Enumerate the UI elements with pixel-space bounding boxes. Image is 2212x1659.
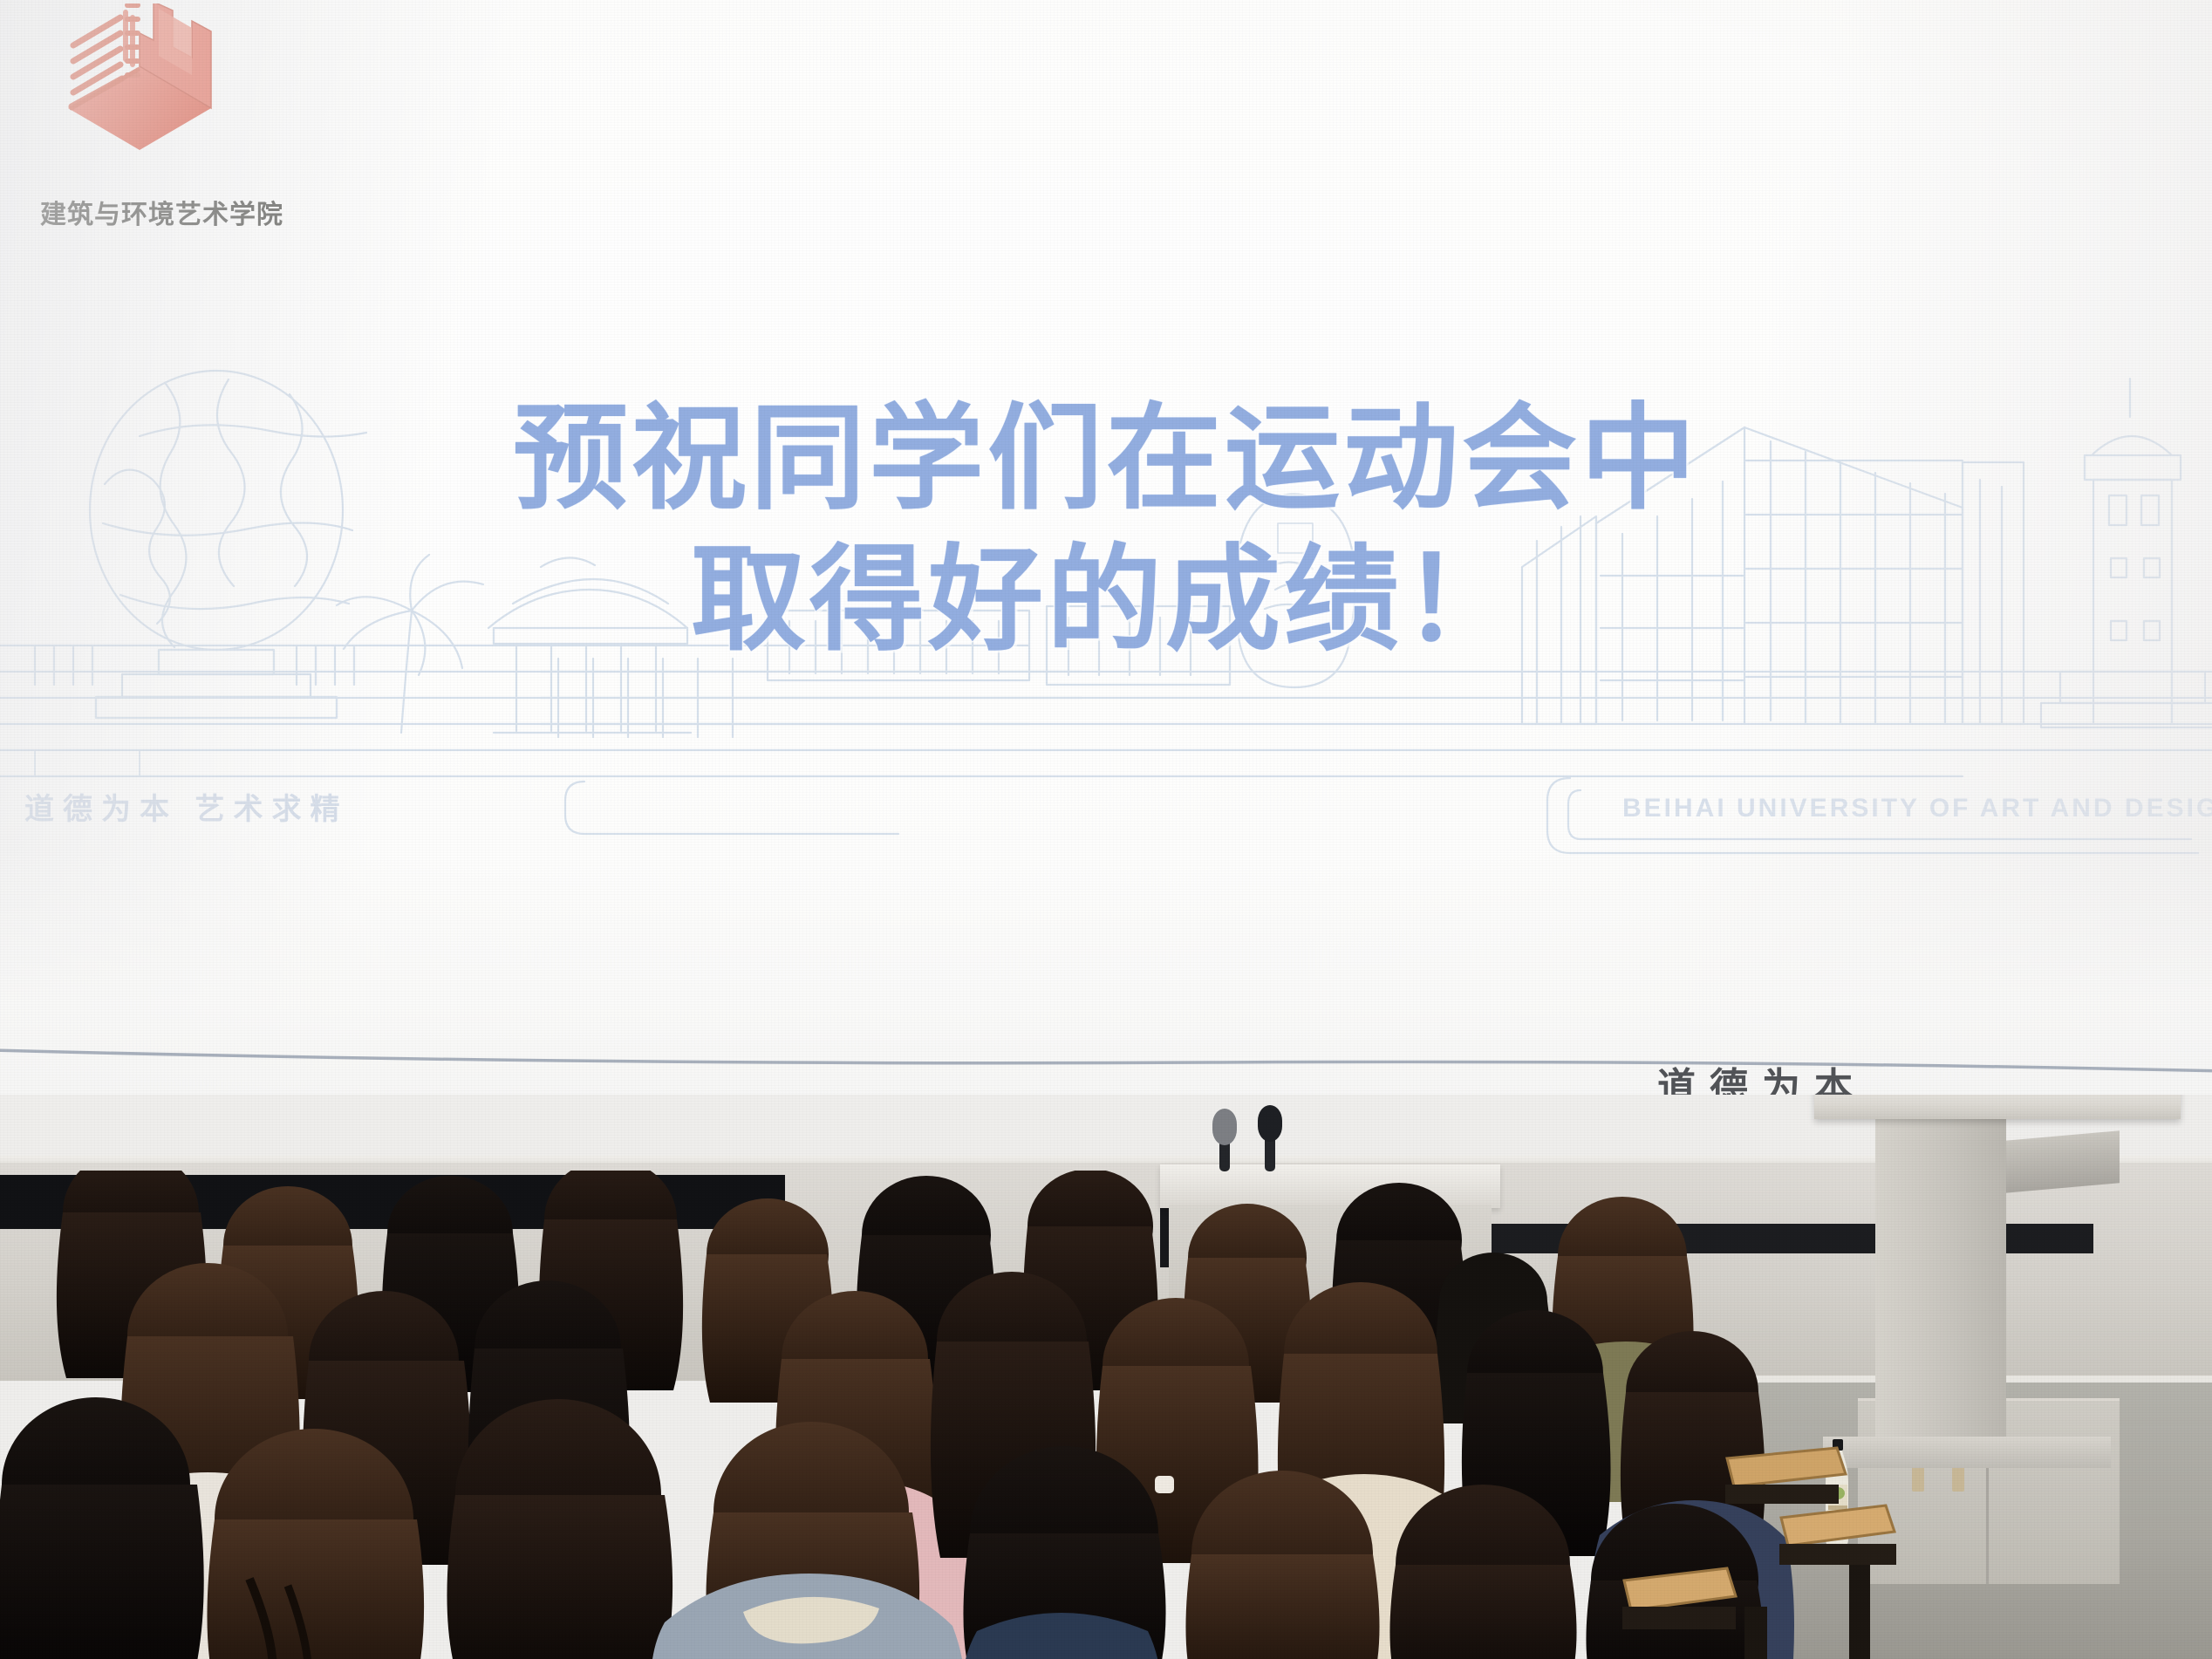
podium-top [1814,1095,2181,1119]
college-logo-caption: 建筑与环境艺术学院 [40,197,302,227]
console-microphone-2-head [1258,1105,1282,1142]
isometric-cube-building-logo-icon [52,3,227,156]
lecture-hall-foreground [0,1095,2212,1659]
slide-motto-chinese: 道德为本 艺术求精 [24,785,348,828]
projection-screen: 道德为本 艺术求精 BEIHAI UNIVERSITY OF ART AND D… [0,0,2212,1108]
audience-group [0,1171,2212,1659]
console-microphone-1-head [1212,1109,1237,1145]
slide-motto-english: BEIHAI UNIVERSITY OF ART AND DESIGN [1622,794,2212,823]
screen-bottom-fade [0,846,2212,1108]
slide-lineart-illustration [0,262,2212,872]
screenshot-root: 道德为本 艺术求精 BEIHAI UNIVERSITY OF ART AND D… [0,0,2212,1659]
college-logo: 建筑与环境艺术学院 [19,3,307,222]
